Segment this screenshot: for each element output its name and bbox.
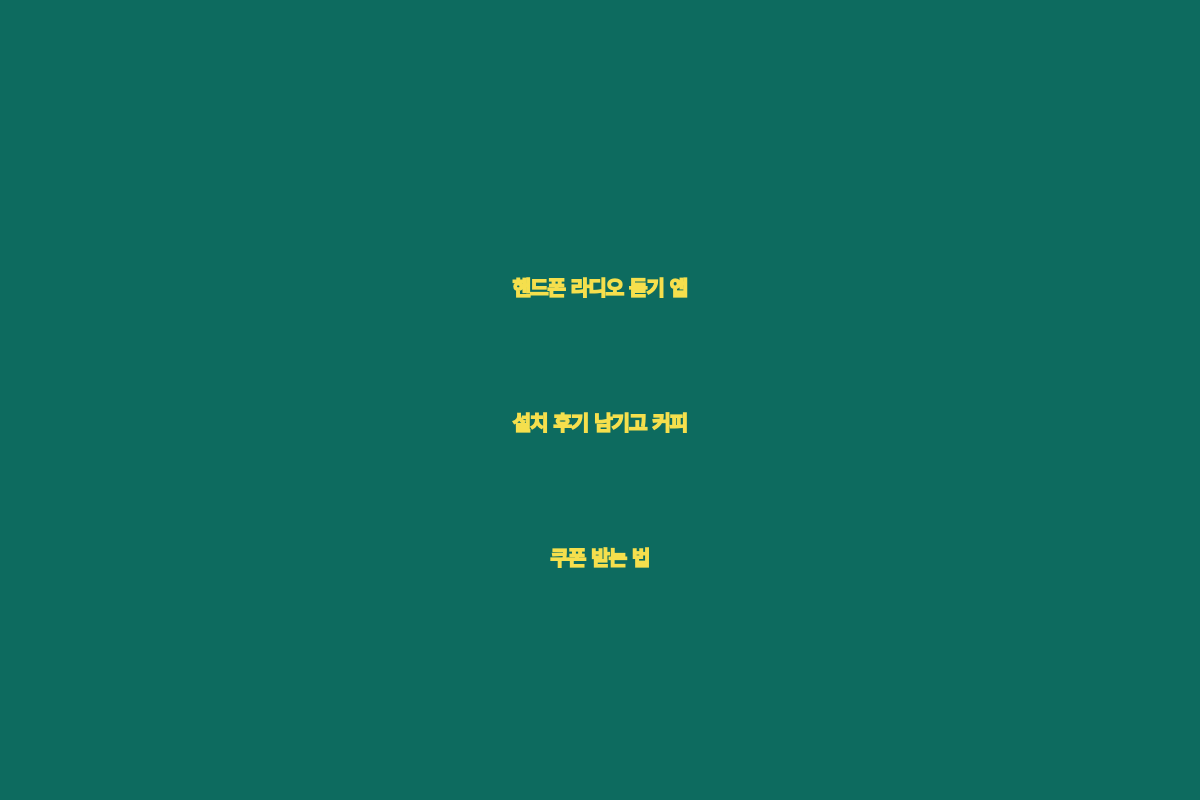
title-line-3: 쿠폰 받는 법 xyxy=(40,491,1160,626)
title-text-block: 핸드폰 라디오 듣기 앱 설치 후기 남기고 커피 쿠폰 받는 법 xyxy=(0,221,1200,626)
thumbnail-card: 핸드폰 라디오 듣기 앱 설치 후기 남기고 커피 쿠폰 받는 법 xyxy=(0,0,1200,800)
title-line-1: 핸드폰 라디오 듣기 앱 xyxy=(40,221,1160,356)
title-line-2: 설치 후기 남기고 커피 xyxy=(40,356,1160,491)
